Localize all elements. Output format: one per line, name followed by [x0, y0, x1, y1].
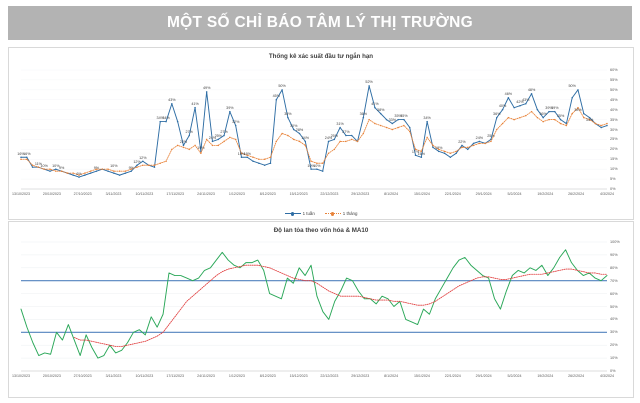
chart-1-legend: 1 tuần1 tháng: [9, 211, 633, 216]
legend-swatch: [285, 213, 301, 214]
page-title: MỘT SỐ CHỈ BÁO TÂM LÝ THỊ TRƯỜNG: [167, 14, 473, 32]
slide-title-banner: MỘT SỐ CHỈ BÁO TÂM LÝ THỊ TRƯỜNG: [8, 6, 632, 40]
legend-swatch: [325, 213, 341, 214]
chart-2-plot-area: [9, 222, 633, 397]
slide-page: MỘT SỐ CHỈ BÁO TÂM LÝ THỊ TRƯỜNG Thống k…: [0, 0, 640, 403]
legend-item[interactable]: 1 tháng: [325, 211, 358, 216]
chart-1-plot-area: [9, 48, 633, 219]
legend-item[interactable]: 1 tuần: [285, 211, 315, 216]
chart-panel-breadth-ma10: Độ lan tỏa theo vốn hóa & MA10 13/10/202…: [8, 221, 634, 398]
legend-label: 1 tháng: [343, 211, 358, 216]
chart-panel-short-term-probability: Thống kê xác suất đầu tư ngắn hạn 13/10/…: [8, 47, 634, 220]
legend-label: 1 tuần: [303, 211, 315, 216]
